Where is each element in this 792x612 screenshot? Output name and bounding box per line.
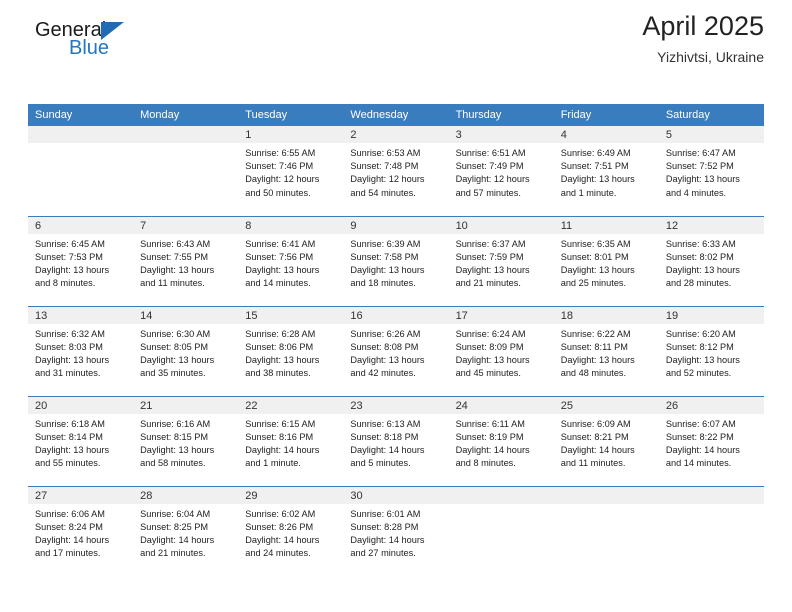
calendar-day-cell[interactable]: 21Sunrise: 6:16 AMSunset: 8:15 PMDayligh… xyxy=(133,396,238,486)
day-number: 21 xyxy=(133,397,238,414)
sunset-text: Sunset: 7:51 PM xyxy=(561,160,653,173)
daylight-text-line2: and 4 minutes. xyxy=(666,187,758,200)
day-sun-info: Sunrise: 6:45 AMSunset: 7:53 PMDaylight:… xyxy=(28,234,133,291)
title-block: April 2025 Yizhivtsi, Ukraine xyxy=(642,0,764,65)
day-sun-info: Sunrise: 6:37 AMSunset: 7:59 PMDaylight:… xyxy=(449,234,554,291)
sunrise-text: Sunrise: 6:02 AM xyxy=(245,508,337,521)
weekday-header-row: Sunday Monday Tuesday Wednesday Thursday… xyxy=(28,104,764,126)
day-sun-info: Sunrise: 6:39 AMSunset: 7:58 PMDaylight:… xyxy=(343,234,448,291)
day-number xyxy=(133,126,238,143)
daylight-text-line2: and 21 minutes. xyxy=(456,277,548,290)
sunrise-text: Sunrise: 6:15 AM xyxy=(245,418,337,431)
daylight-text-line2: and 18 minutes. xyxy=(350,277,442,290)
calendar-day-cell[interactable]: 2Sunrise: 6:53 AMSunset: 7:48 PMDaylight… xyxy=(343,126,448,216)
sunset-text: Sunset: 8:05 PM xyxy=(140,341,232,354)
calendar-week-row: 1Sunrise: 6:55 AMSunset: 7:46 PMDaylight… xyxy=(28,126,764,216)
sunset-text: Sunset: 7:53 PM xyxy=(35,251,127,264)
day-sun-info: Sunrise: 6:15 AMSunset: 8:16 PMDaylight:… xyxy=(238,414,343,471)
day-sun-info: Sunrise: 6:30 AMSunset: 8:05 PMDaylight:… xyxy=(133,324,238,381)
day-sun-info: Sunrise: 6:24 AMSunset: 8:09 PMDaylight:… xyxy=(449,324,554,381)
day-sun-info: Sunrise: 6:02 AMSunset: 8:26 PMDaylight:… xyxy=(238,504,343,561)
day-number: 14 xyxy=(133,307,238,324)
day-sun-info: Sunrise: 6:47 AMSunset: 7:52 PMDaylight:… xyxy=(659,143,764,200)
sunset-text: Sunset: 8:25 PM xyxy=(140,521,232,534)
daylight-text-line1: Daylight: 13 hours xyxy=(35,354,127,367)
calendar-day-cell[interactable]: 7Sunrise: 6:43 AMSunset: 7:55 PMDaylight… xyxy=(133,216,238,306)
sunrise-text: Sunrise: 6:13 AM xyxy=(350,418,442,431)
daylight-text-line1: Daylight: 13 hours xyxy=(666,354,758,367)
daylight-text-line1: Daylight: 13 hours xyxy=(456,354,548,367)
calendar-day-cell[interactable]: 19Sunrise: 6:20 AMSunset: 8:12 PMDayligh… xyxy=(659,306,764,396)
daylight-text-line1: Daylight: 14 hours xyxy=(140,534,232,547)
weekday-header-thursday: Thursday xyxy=(449,104,554,126)
weekday-header-friday: Friday xyxy=(554,104,659,126)
calendar-page: General Blue April 2025 Yizhivtsi, Ukrai… xyxy=(0,0,792,612)
sunset-text: Sunset: 8:06 PM xyxy=(245,341,337,354)
weekday-header-saturday: Saturday xyxy=(659,104,764,126)
daylight-text-line1: Daylight: 14 hours xyxy=(245,444,337,457)
day-sun-info: Sunrise: 6:49 AMSunset: 7:51 PMDaylight:… xyxy=(554,143,659,200)
day-sun-info: Sunrise: 6:33 AMSunset: 8:02 PMDaylight:… xyxy=(659,234,764,291)
day-sun-info: Sunrise: 6:16 AMSunset: 8:15 PMDaylight:… xyxy=(133,414,238,471)
calendar-day-cell[interactable]: 13Sunrise: 6:32 AMSunset: 8:03 PMDayligh… xyxy=(28,306,133,396)
sunset-text: Sunset: 8:21 PM xyxy=(561,431,653,444)
day-number: 29 xyxy=(238,487,343,504)
day-number: 18 xyxy=(554,307,659,324)
daylight-text-line2: and 27 minutes. xyxy=(350,547,442,560)
day-number xyxy=(28,126,133,143)
daylight-text-line1: Daylight: 12 hours xyxy=(456,173,548,186)
day-sun-info: Sunrise: 6:13 AMSunset: 8:18 PMDaylight:… xyxy=(343,414,448,471)
daylight-text-line1: Daylight: 13 hours xyxy=(35,264,127,277)
daylight-text-line2: and 14 minutes. xyxy=(245,277,337,290)
sunrise-text: Sunrise: 6:37 AM xyxy=(456,238,548,251)
sunrise-text: Sunrise: 6:43 AM xyxy=(140,238,232,251)
day-sun-info: Sunrise: 6:28 AMSunset: 8:06 PMDaylight:… xyxy=(238,324,343,381)
sunset-text: Sunset: 7:58 PM xyxy=(350,251,442,264)
page-title: April 2025 xyxy=(642,12,764,42)
sunrise-text: Sunrise: 6:07 AM xyxy=(666,418,758,431)
day-number: 19 xyxy=(659,307,764,324)
sunrise-text: Sunrise: 6:06 AM xyxy=(35,508,127,521)
sunrise-text: Sunrise: 6:39 AM xyxy=(350,238,442,251)
daylight-text-line1: Daylight: 13 hours xyxy=(350,264,442,277)
sunrise-text: Sunrise: 6:33 AM xyxy=(666,238,758,251)
calendar-week-row: 13Sunrise: 6:32 AMSunset: 8:03 PMDayligh… xyxy=(28,306,764,396)
sunset-text: Sunset: 7:56 PM xyxy=(245,251,337,264)
calendar-grid: Sunday Monday Tuesday Wednesday Thursday… xyxy=(28,104,764,576)
calendar-day-cell[interactable]: 27Sunrise: 6:06 AMSunset: 8:24 PMDayligh… xyxy=(28,486,133,576)
calendar-day-cell[interactable]: 20Sunrise: 6:18 AMSunset: 8:14 PMDayligh… xyxy=(28,396,133,486)
sunset-text: Sunset: 7:52 PM xyxy=(666,160,758,173)
daylight-text-line1: Daylight: 14 hours xyxy=(666,444,758,457)
calendar-day-cell[interactable]: 30Sunrise: 6:01 AMSunset: 8:28 PMDayligh… xyxy=(343,486,448,576)
calendar-day-cell[interactable]: 9Sunrise: 6:39 AMSunset: 7:58 PMDaylight… xyxy=(343,216,448,306)
daylight-text-line1: Daylight: 12 hours xyxy=(350,173,442,186)
daylight-text-line1: Daylight: 13 hours xyxy=(245,264,337,277)
calendar-day-cell[interactable]: 23Sunrise: 6:13 AMSunset: 8:18 PMDayligh… xyxy=(343,396,448,486)
daylight-text-line1: Daylight: 14 hours xyxy=(350,534,442,547)
calendar-day-cell[interactable]: 15Sunrise: 6:28 AMSunset: 8:06 PMDayligh… xyxy=(238,306,343,396)
daylight-text-line2: and 14 minutes. xyxy=(666,457,758,470)
sunset-text: Sunset: 8:26 PM xyxy=(245,521,337,534)
day-number: 2 xyxy=(343,126,448,143)
day-sun-info: Sunrise: 6:35 AMSunset: 8:01 PMDaylight:… xyxy=(554,234,659,291)
sunrise-text: Sunrise: 6:16 AM xyxy=(140,418,232,431)
calendar-day-cell[interactable]: 5Sunrise: 6:47 AMSunset: 7:52 PMDaylight… xyxy=(659,126,764,216)
day-sun-info: Sunrise: 6:11 AMSunset: 8:19 PMDaylight:… xyxy=(449,414,554,471)
day-sun-info: Sunrise: 6:22 AMSunset: 8:11 PMDaylight:… xyxy=(554,324,659,381)
daylight-text-line1: Daylight: 13 hours xyxy=(666,264,758,277)
daylight-text-line2: and 42 minutes. xyxy=(350,367,442,380)
calendar-day-cell[interactable]: 22Sunrise: 6:15 AMSunset: 8:16 PMDayligh… xyxy=(238,396,343,486)
daylight-text-line2: and 5 minutes. xyxy=(350,457,442,470)
day-sun-info: Sunrise: 6:55 AMSunset: 7:46 PMDaylight:… xyxy=(238,143,343,200)
sunset-text: Sunset: 8:24 PM xyxy=(35,521,127,534)
daylight-text-line1: Daylight: 13 hours xyxy=(456,264,548,277)
day-sun-info: Sunrise: 6:01 AMSunset: 8:28 PMDaylight:… xyxy=(343,504,448,561)
weekday-header-wednesday: Wednesday xyxy=(343,104,448,126)
day-sun-info: Sunrise: 6:06 AMSunset: 8:24 PMDaylight:… xyxy=(28,504,133,561)
sunset-text: Sunset: 8:02 PM xyxy=(666,251,758,264)
daylight-text-line2: and 45 minutes. xyxy=(456,367,548,380)
calendar-body: 1Sunrise: 6:55 AMSunset: 7:46 PMDaylight… xyxy=(28,126,764,576)
calendar-day-cell[interactable]: 14Sunrise: 6:30 AMSunset: 8:05 PMDayligh… xyxy=(133,306,238,396)
daylight-text-line2: and 54 minutes. xyxy=(350,187,442,200)
daylight-text-line1: Daylight: 13 hours xyxy=(140,354,232,367)
day-number: 23 xyxy=(343,397,448,414)
sunset-text: Sunset: 7:55 PM xyxy=(140,251,232,264)
day-number: 11 xyxy=(554,217,659,234)
daylight-text-line2: and 21 minutes. xyxy=(140,547,232,560)
day-number: 16 xyxy=(343,307,448,324)
weekday-header-monday: Monday xyxy=(133,104,238,126)
day-number: 27 xyxy=(28,487,133,504)
day-number: 1 xyxy=(238,126,343,143)
daylight-text-line2: and 25 minutes. xyxy=(561,277,653,290)
sunset-text: Sunset: 8:09 PM xyxy=(456,341,548,354)
daylight-text-line1: Daylight: 13 hours xyxy=(245,354,337,367)
calendar-day-cell[interactable]: 28Sunrise: 6:04 AMSunset: 8:25 PMDayligh… xyxy=(133,486,238,576)
day-sun-info: Sunrise: 6:20 AMSunset: 8:12 PMDaylight:… xyxy=(659,324,764,381)
sunrise-text: Sunrise: 6:01 AM xyxy=(350,508,442,521)
calendar-day-cell[interactable]: 3Sunrise: 6:51 AMSunset: 7:49 PMDaylight… xyxy=(449,126,554,216)
day-sun-info: Sunrise: 6:09 AMSunset: 8:21 PMDaylight:… xyxy=(554,414,659,471)
day-sun-info: Sunrise: 6:43 AMSunset: 7:55 PMDaylight:… xyxy=(133,234,238,291)
sunset-text: Sunset: 8:28 PM xyxy=(350,521,442,534)
daylight-text-line1: Daylight: 14 hours xyxy=(35,534,127,547)
day-sun-info: Sunrise: 6:18 AMSunset: 8:14 PMDaylight:… xyxy=(28,414,133,471)
day-sun-info: Sunrise: 6:32 AMSunset: 8:03 PMDaylight:… xyxy=(28,324,133,381)
day-number: 20 xyxy=(28,397,133,414)
calendar-day-cell-empty xyxy=(28,126,133,216)
sunset-text: Sunset: 7:46 PM xyxy=(245,160,337,173)
daylight-text-line2: and 38 minutes. xyxy=(245,367,337,380)
day-number: 17 xyxy=(449,307,554,324)
sunset-text: Sunset: 7:59 PM xyxy=(456,251,548,264)
daylight-text-line1: Daylight: 14 hours xyxy=(561,444,653,457)
sunrise-text: Sunrise: 6:11 AM xyxy=(456,418,548,431)
calendar-day-cell[interactable]: 29Sunrise: 6:02 AMSunset: 8:26 PMDayligh… xyxy=(238,486,343,576)
daylight-text-line1: Daylight: 12 hours xyxy=(245,173,337,186)
calendar-day-cell[interactable]: 24Sunrise: 6:11 AMSunset: 8:19 PMDayligh… xyxy=(449,396,554,486)
calendar-week-row: 27Sunrise: 6:06 AMSunset: 8:24 PMDayligh… xyxy=(28,486,764,576)
daylight-text-line1: Daylight: 14 hours xyxy=(350,444,442,457)
day-number xyxy=(554,487,659,504)
daylight-text-line2: and 52 minutes. xyxy=(666,367,758,380)
daylight-text-line2: and 8 minutes. xyxy=(35,277,127,290)
sunrise-text: Sunrise: 6:51 AM xyxy=(456,147,548,160)
sunset-text: Sunset: 8:11 PM xyxy=(561,341,653,354)
daylight-text-line1: Daylight: 13 hours xyxy=(35,444,127,457)
calendar-day-cell-empty xyxy=(133,126,238,216)
day-sun-info: Sunrise: 6:51 AMSunset: 7:49 PMDaylight:… xyxy=(449,143,554,200)
day-number: 22 xyxy=(238,397,343,414)
calendar-day-cell[interactable]: 1Sunrise: 6:55 AMSunset: 7:46 PMDaylight… xyxy=(238,126,343,216)
daylight-text-line2: and 11 minutes. xyxy=(140,277,232,290)
sunrise-text: Sunrise: 6:30 AM xyxy=(140,328,232,341)
sunset-text: Sunset: 8:12 PM xyxy=(666,341,758,354)
calendar-day-cell-empty xyxy=(659,486,764,576)
calendar-day-cell[interactable]: 11Sunrise: 6:35 AMSunset: 8:01 PMDayligh… xyxy=(554,216,659,306)
day-sun-info: Sunrise: 6:26 AMSunset: 8:08 PMDaylight:… xyxy=(343,324,448,381)
daylight-text-line1: Daylight: 13 hours xyxy=(561,264,653,277)
day-sun-info: Sunrise: 6:04 AMSunset: 8:25 PMDaylight:… xyxy=(133,504,238,561)
day-number: 28 xyxy=(133,487,238,504)
daylight-text-line1: Daylight: 13 hours xyxy=(561,173,653,186)
daylight-text-line2: and 48 minutes. xyxy=(561,367,653,380)
daylight-text-line1: Daylight: 13 hours xyxy=(350,354,442,367)
day-sun-info: Sunrise: 6:07 AMSunset: 8:22 PMDaylight:… xyxy=(659,414,764,471)
daylight-text-line2: and 50 minutes. xyxy=(245,187,337,200)
sunset-text: Sunset: 8:18 PM xyxy=(350,431,442,444)
daylight-text-line2: and 28 minutes. xyxy=(666,277,758,290)
sunrise-text: Sunrise: 6:09 AM xyxy=(561,418,653,431)
day-number: 5 xyxy=(659,126,764,143)
sunrise-text: Sunrise: 6:04 AM xyxy=(140,508,232,521)
day-number: 7 xyxy=(133,217,238,234)
day-number: 10 xyxy=(449,217,554,234)
calendar-day-cell-empty xyxy=(449,486,554,576)
sunset-text: Sunset: 8:19 PM xyxy=(456,431,548,444)
weekday-header-tuesday: Tuesday xyxy=(238,104,343,126)
calendar-day-cell[interactable]: 10Sunrise: 6:37 AMSunset: 7:59 PMDayligh… xyxy=(449,216,554,306)
daylight-text-line2: and 1 minute. xyxy=(245,457,337,470)
calendar-day-cell[interactable]: 8Sunrise: 6:41 AMSunset: 7:56 PMDaylight… xyxy=(238,216,343,306)
page-header: General Blue April 2025 Yizhivtsi, Ukrai… xyxy=(28,0,764,72)
day-number: 26 xyxy=(659,397,764,414)
daylight-text-line2: and 1 minute. xyxy=(561,187,653,200)
calendar-day-cell[interactable]: 4Sunrise: 6:49 AMSunset: 7:51 PMDaylight… xyxy=(554,126,659,216)
sunset-text: Sunset: 7:48 PM xyxy=(350,160,442,173)
sunrise-text: Sunrise: 6:45 AM xyxy=(35,238,127,251)
day-number: 13 xyxy=(28,307,133,324)
sunrise-text: Sunrise: 6:55 AM xyxy=(245,147,337,160)
calendar-day-cell[interactable]: 12Sunrise: 6:33 AMSunset: 8:02 PMDayligh… xyxy=(659,216,764,306)
sunrise-text: Sunrise: 6:47 AM xyxy=(666,147,758,160)
sunrise-text: Sunrise: 6:26 AM xyxy=(350,328,442,341)
day-number: 6 xyxy=(28,217,133,234)
calendar-week-row: 20Sunrise: 6:18 AMSunset: 8:14 PMDayligh… xyxy=(28,396,764,486)
sunrise-text: Sunrise: 6:32 AM xyxy=(35,328,127,341)
day-number: 30 xyxy=(343,487,448,504)
sunset-text: Sunset: 8:01 PM xyxy=(561,251,653,264)
sunset-text: Sunset: 8:08 PM xyxy=(350,341,442,354)
day-number xyxy=(659,487,764,504)
daylight-text-line2: and 31 minutes. xyxy=(35,367,127,380)
sunrise-text: Sunrise: 6:18 AM xyxy=(35,418,127,431)
page-subtitle: Yizhivtsi, Ukraine xyxy=(642,49,764,65)
day-number: 24 xyxy=(449,397,554,414)
daylight-text-line1: Daylight: 14 hours xyxy=(456,444,548,457)
sunset-text: Sunset: 7:49 PM xyxy=(456,160,548,173)
daylight-text-line1: Daylight: 13 hours xyxy=(561,354,653,367)
sunrise-text: Sunrise: 6:20 AM xyxy=(666,328,758,341)
day-number: 25 xyxy=(554,397,659,414)
calendar-day-cell-empty xyxy=(554,486,659,576)
calendar-day-cell[interactable]: 6Sunrise: 6:45 AMSunset: 7:53 PMDaylight… xyxy=(28,216,133,306)
weekday-header-sunday: Sunday xyxy=(28,104,133,126)
daylight-text-line1: Daylight: 13 hours xyxy=(140,264,232,277)
daylight-text-line1: Daylight: 13 hours xyxy=(140,444,232,457)
day-number: 3 xyxy=(449,126,554,143)
daylight-text-line2: and 35 minutes. xyxy=(140,367,232,380)
sunset-text: Sunset: 8:15 PM xyxy=(140,431,232,444)
day-number xyxy=(449,487,554,504)
calendar-week-row: 6Sunrise: 6:45 AMSunset: 7:53 PMDaylight… xyxy=(28,216,764,306)
daylight-text-line2: and 11 minutes. xyxy=(561,457,653,470)
daylight-text-line2: and 55 minutes. xyxy=(35,457,127,470)
day-number: 12 xyxy=(659,217,764,234)
daylight-text-line2: and 58 minutes. xyxy=(140,457,232,470)
sunset-text: Sunset: 8:14 PM xyxy=(35,431,127,444)
sunset-text: Sunset: 8:22 PM xyxy=(666,431,758,444)
sunrise-text: Sunrise: 6:28 AM xyxy=(245,328,337,341)
day-sun-info: Sunrise: 6:53 AMSunset: 7:48 PMDaylight:… xyxy=(343,143,448,200)
day-number: 4 xyxy=(554,126,659,143)
brand-logo[interactable]: General Blue xyxy=(35,8,195,64)
sunrise-text: Sunrise: 6:41 AM xyxy=(245,238,337,251)
daylight-text-line1: Daylight: 14 hours xyxy=(245,534,337,547)
daylight-text-line2: and 17 minutes. xyxy=(35,547,127,560)
sunrise-text: Sunrise: 6:24 AM xyxy=(456,328,548,341)
calendar-day-cell[interactable]: 18Sunrise: 6:22 AMSunset: 8:11 PMDayligh… xyxy=(554,306,659,396)
daylight-text-line2: and 8 minutes. xyxy=(456,457,548,470)
day-number: 8 xyxy=(238,217,343,234)
daylight-text-line2: and 24 minutes. xyxy=(245,547,337,560)
sunrise-text: Sunrise: 6:49 AM xyxy=(561,147,653,160)
day-number: 9 xyxy=(343,217,448,234)
calendar-day-cell[interactable]: 25Sunrise: 6:09 AMSunset: 8:21 PMDayligh… xyxy=(554,396,659,486)
sunset-text: Sunset: 8:16 PM xyxy=(245,431,337,444)
sunrise-text: Sunrise: 6:22 AM xyxy=(561,328,653,341)
daylight-text-line2: and 57 minutes. xyxy=(456,187,548,200)
calendar-day-cell[interactable]: 16Sunrise: 6:26 AMSunset: 8:08 PMDayligh… xyxy=(343,306,448,396)
sunset-text: Sunset: 8:03 PM xyxy=(35,341,127,354)
sunrise-text: Sunrise: 6:53 AM xyxy=(350,147,442,160)
daylight-text-line1: Daylight: 13 hours xyxy=(666,173,758,186)
day-sun-info: Sunrise: 6:41 AMSunset: 7:56 PMDaylight:… xyxy=(238,234,343,291)
sunrise-text: Sunrise: 6:35 AM xyxy=(561,238,653,251)
calendar-day-cell[interactable]: 26Sunrise: 6:07 AMSunset: 8:22 PMDayligh… xyxy=(659,396,764,486)
day-number: 15 xyxy=(238,307,343,324)
calendar-day-cell[interactable]: 17Sunrise: 6:24 AMSunset: 8:09 PMDayligh… xyxy=(449,306,554,396)
brand-name-bottom: Blue xyxy=(69,38,109,58)
